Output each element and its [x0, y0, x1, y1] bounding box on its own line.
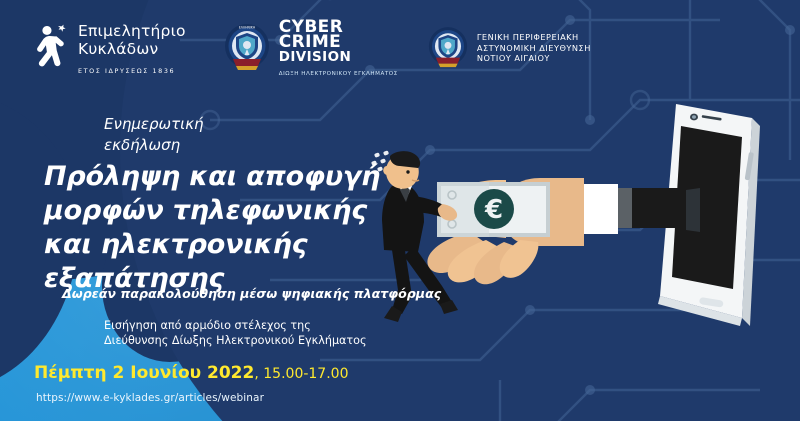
kicker-line1: Ενημερωτική — [104, 114, 274, 135]
kicker-line2: εκδήλωση — [104, 135, 274, 156]
headline-line3: και ηλεκτρονικής — [44, 228, 404, 262]
speaker-line2: Διεύθυνσης Δίωξης Ηλεκτρονικού Εγκλήματο… — [104, 334, 367, 349]
event-headline: Πρόληψη και αποφυγή μορφών τηλεφωνικής κ… — [44, 160, 404, 296]
event-date-separator: , — [254, 366, 263, 382]
headline-line2: μορφών τηλεφωνικής — [44, 194, 404, 228]
event-time: 15.00-17.00 — [263, 366, 348, 382]
event-url[interactable]: https://www.e-kyklades.gr/articles/webin… — [36, 392, 264, 404]
event-subline: Δωρεάν παρακολούθηση μέσω ψηφιακής πλατφ… — [62, 286, 441, 301]
event-kicker: Ενημερωτική εκδήλωση — [104, 114, 274, 156]
event-date: Πέμπτη 2 Ιουνίου 2022 — [34, 363, 254, 383]
event-banner: € — [0, 0, 800, 421]
event-content: Ενημερωτική εκδήλωση Πρόληψη και αποφυγή… — [0, 0, 800, 421]
event-speaker: Εισήγηση από αρμόδιο στέλεχος της Διεύθυ… — [104, 319, 367, 348]
event-datetime: Πέμπτη 2 Ιουνίου 2022, 15.00-17.00 — [34, 363, 348, 383]
speaker-line1: Εισήγηση από αρμόδιο στέλεχος της — [104, 319, 367, 334]
headline-line1: Πρόληψη και αποφυγή — [44, 160, 404, 194]
